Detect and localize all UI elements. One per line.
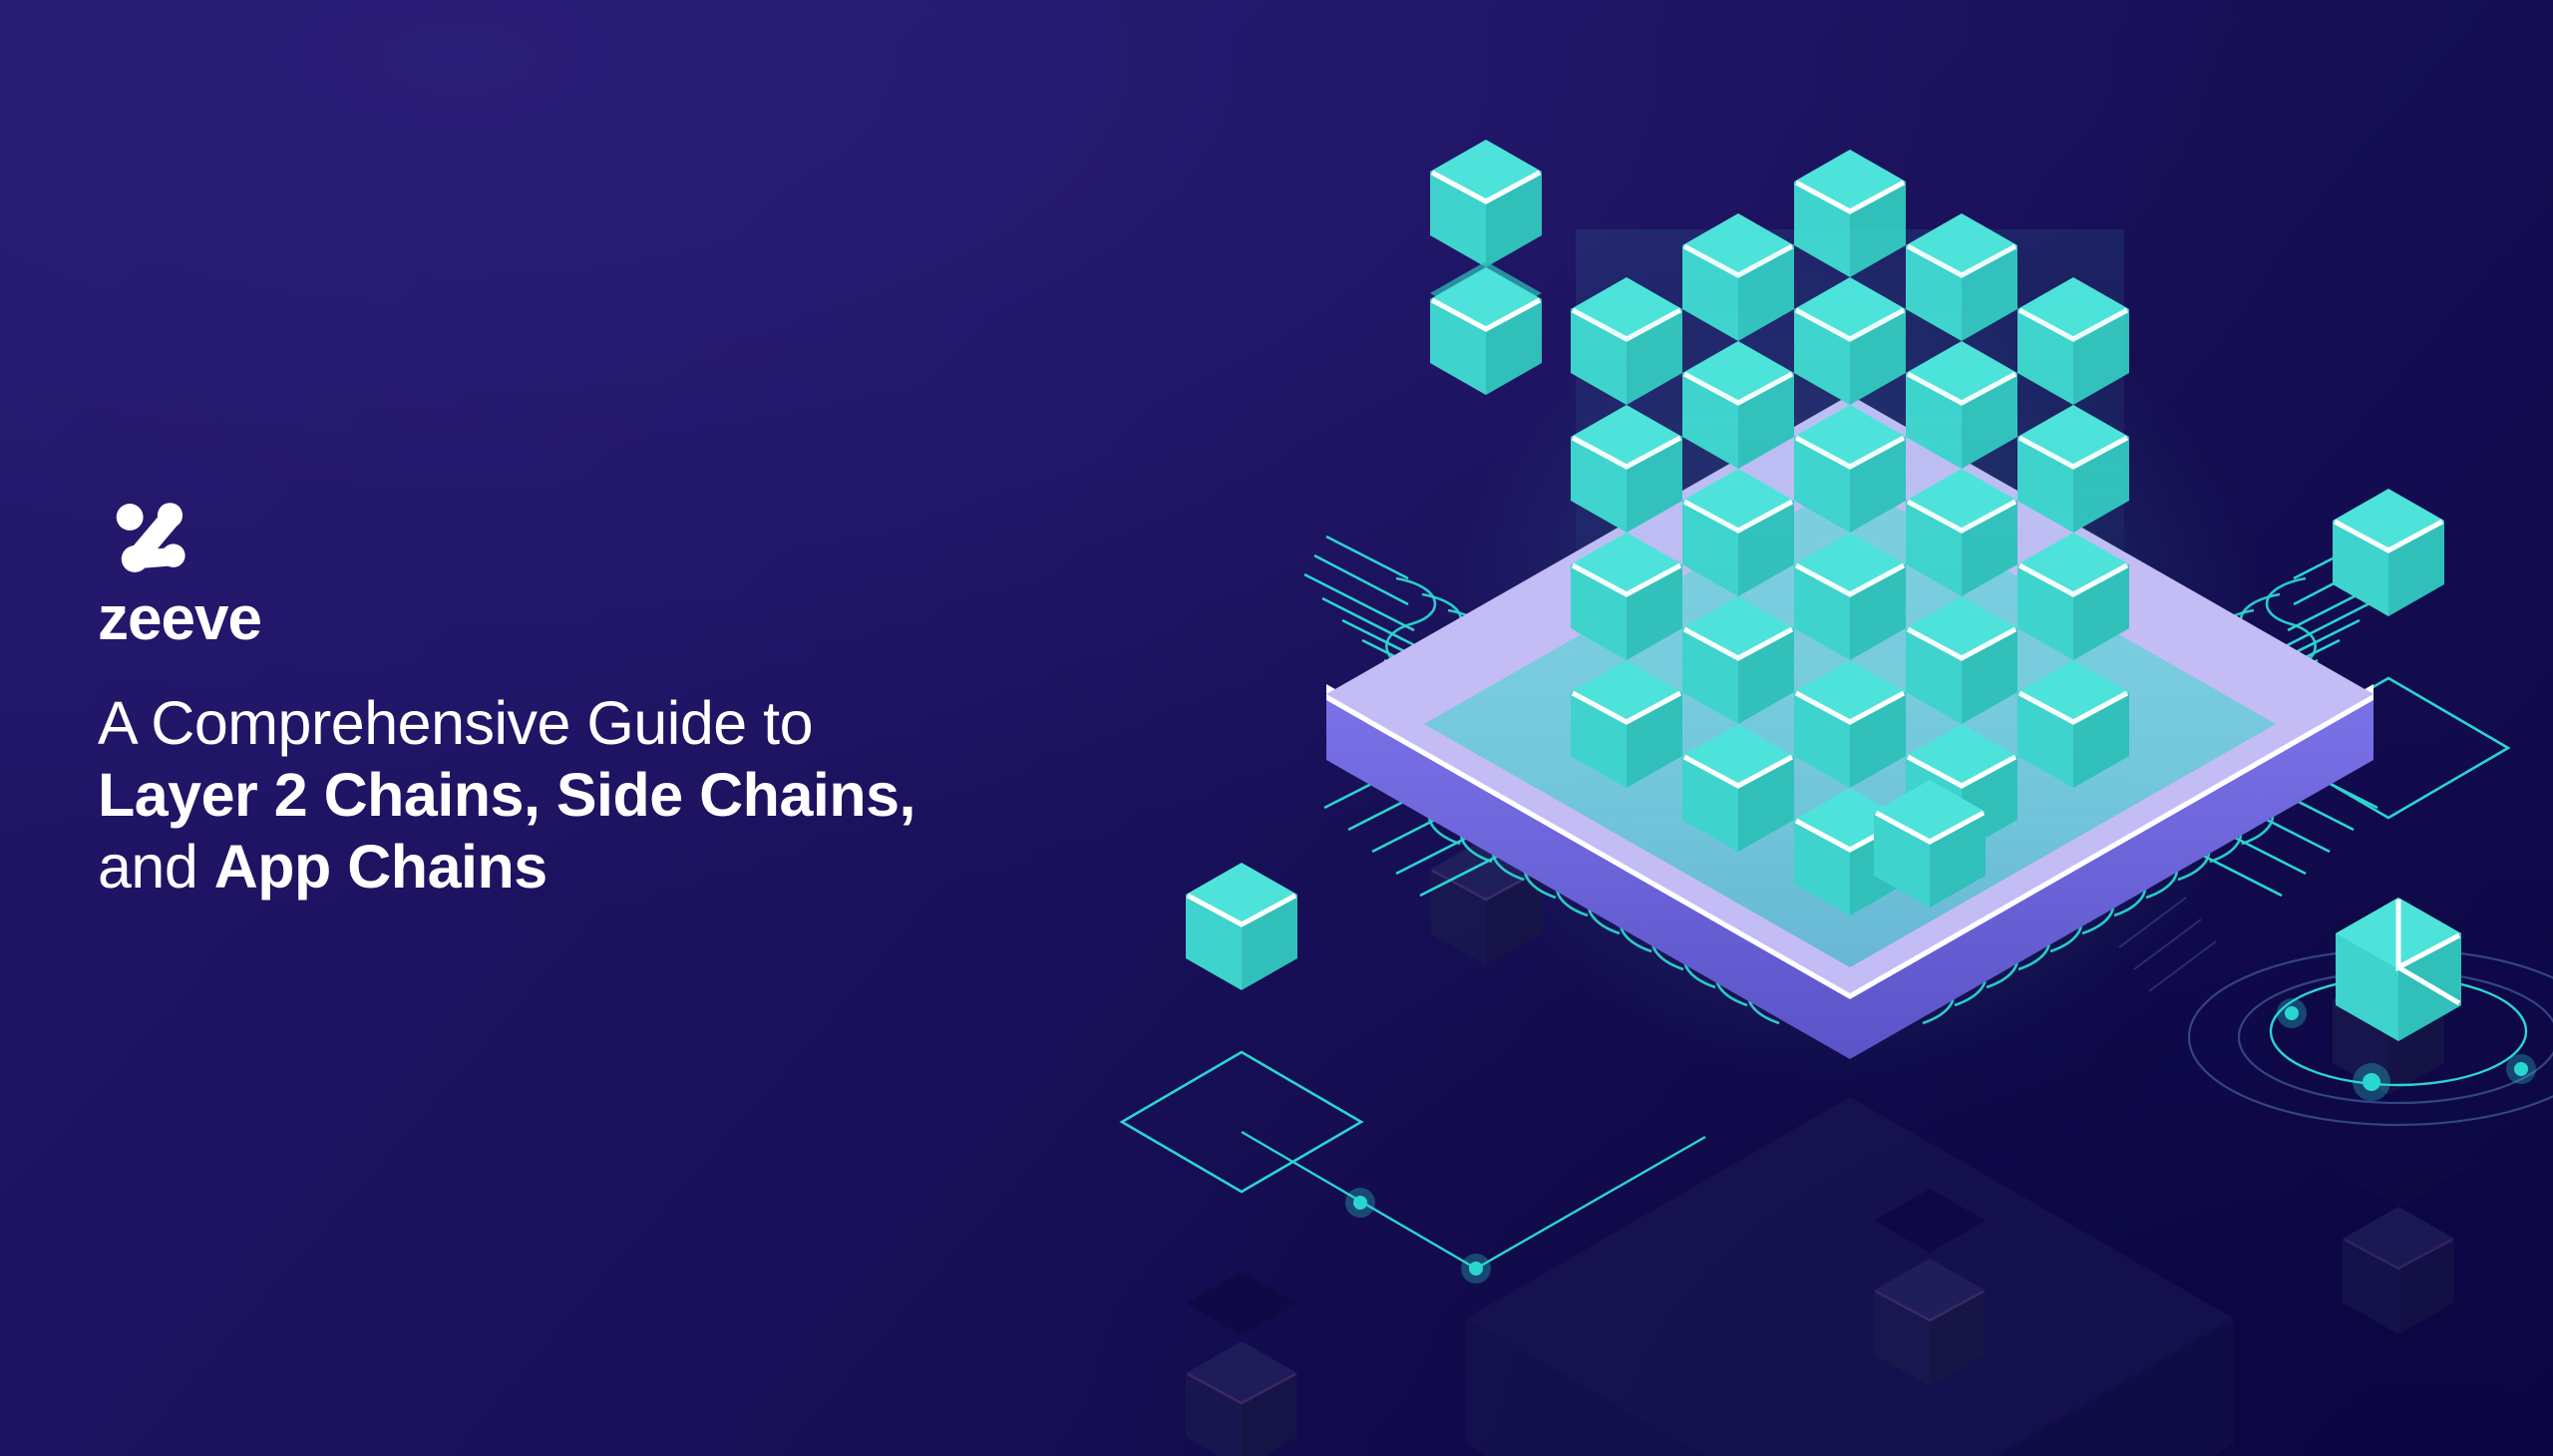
headline-line-2: Layer 2 Chains, Side Chains,	[98, 760, 1175, 832]
floating-cube-upper-left-bottom	[1430, 261, 1542, 395]
cube-reflection-left	[1186, 1272, 1297, 1456]
headline-line-3: and App Chains	[98, 832, 1175, 904]
cube-reflection-bottom-center	[1874, 1189, 1986, 1386]
floating-cube-left	[1186, 863, 1297, 990]
hero-banner: zeeve A Comprehensive Guide to Layer 2 C…	[0, 0, 2553, 1456]
floating-cube-right	[2333, 489, 2444, 616]
floating-cube-upper-left-top	[1430, 140, 1542, 267]
connector-node-2-halo	[1461, 1254, 1491, 1283]
headline-line-3-bold: App Chains	[214, 833, 547, 901]
connector-node-1-halo	[1345, 1188, 1375, 1218]
hero-text-block: zeeve A Comprehensive Guide to Layer 2 C…	[98, 499, 1175, 904]
cube-cluster	[1571, 150, 2129, 915]
orbit-node-2-halo	[2506, 1054, 2536, 1084]
isometric-blockchain-illustration: .cubeTop { fill:#4de3da; } .cubeLeft { f…	[1147, 110, 2553, 1306]
headline-line-3-prefix: and	[98, 833, 214, 901]
diamond-outline-left	[1122, 1052, 1361, 1192]
page-title: A Comprehensive Guide to Layer 2 Chains,…	[98, 688, 1175, 904]
brand-wordmark: zeeve	[98, 588, 317, 650]
illustration-canvas: .cubeTop { fill:#4de3da; } .cubeLeft { f…	[1147, 110, 2553, 1306]
headline-line-1: A Comprehensive Guide to	[98, 688, 1175, 760]
brand-logo[interactable]: zeeve	[98, 499, 317, 650]
orbit-node-1-halo	[2277, 998, 2307, 1028]
orbit-node-3-halo	[2353, 1063, 2390, 1101]
cube-reflection-orbit	[2319, 1117, 2478, 1334]
cluster-glow	[1576, 229, 2124, 828]
zeeve-z-node-logo-icon	[110, 499, 193, 582]
